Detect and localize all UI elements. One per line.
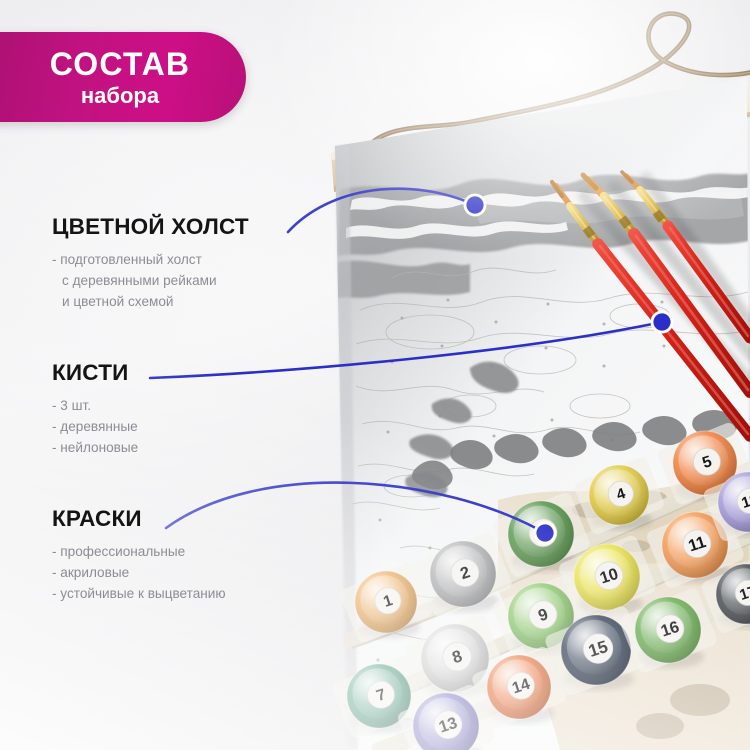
list-item: - подготовленный холст [52,249,249,270]
callout-brushes-list: - 3 шт. - деревянные - нейлоновые [52,395,138,458]
callout-brushes-title: КИСТИ [52,362,138,385]
callout-canvas-title: ЦВЕТНОЙ ХОЛСТ [52,216,249,239]
callout-canvas: ЦВЕТНОЙ ХОЛСТ - подготовленный холст с д… [52,216,249,312]
list-item: - устойчивые к выцветанию [52,583,226,604]
promo-infographic: 123457891011121314151617 СОСТАВ набора Ц… [0,0,750,750]
badge-title-line2: набора [81,85,159,107]
callout-canvas-list: - подготовленный холст с деревянными рей… [52,249,249,312]
list-item: - профессиональные [52,541,226,562]
section-badge: СОСТАВ набора [0,32,246,122]
list-item: - 3 шт. [52,395,138,416]
list-item: - нейлоновые [52,437,138,458]
callout-paints-title: КРАСКИ [52,508,226,531]
list-item: - акриловые [52,562,226,583]
badge-title-line1: СОСТАВ [50,48,190,80]
list-item: - деревянные [52,416,138,437]
list-item: с деревянными рейками [52,270,249,291]
list-item: и цветной схемой [52,291,249,312]
callout-paints-list: - профессиональные - акриловые - устойчи… [52,541,226,604]
callout-brushes: КИСТИ - 3 шт. - деревянные - нейлоновые [52,362,138,458]
callout-paints: КРАСКИ - профессиональные - акриловые - … [52,508,226,604]
